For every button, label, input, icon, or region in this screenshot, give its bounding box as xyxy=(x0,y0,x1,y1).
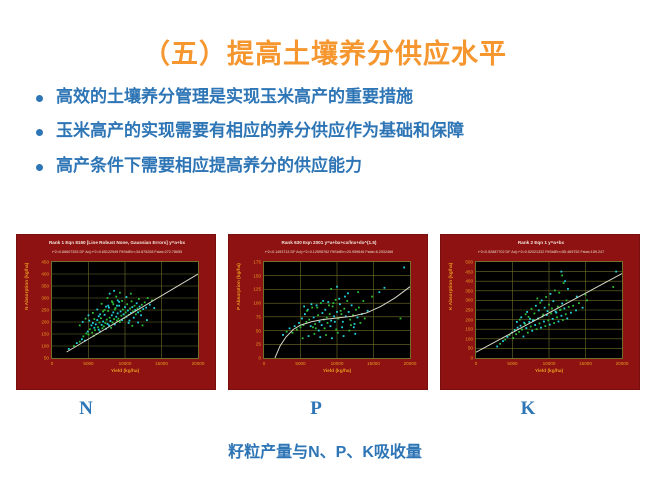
chart-title: Rank 1 Eqn 8160 [Line Robust None, Gauss… xyxy=(16,240,216,245)
plot-canvas: 025507510012515017505000100001500020000 xyxy=(263,261,411,359)
plot-canvas: 5010015020025030035040045005000100001500… xyxy=(51,261,199,359)
y-tick-label: 150 xyxy=(253,273,261,278)
bullet-dot-icon xyxy=(36,129,43,136)
x-tick-label: 20000 xyxy=(616,361,629,366)
y-tick-label: 500 xyxy=(465,260,473,265)
nutrient-label-k: K xyxy=(498,398,558,420)
x-tick-label: 15000 xyxy=(367,361,380,366)
chart-panel-n: Rank 1 Eqn 8160 [Line Robust None, Gauss… xyxy=(16,234,216,390)
chart-panel-k: Rank 2 Eqn 1 y=a+bx r^2=0.52887702 DF Ad… xyxy=(440,234,640,390)
y-tick-label: 200 xyxy=(465,317,473,322)
x-axis-label: Yield (kg/ha) xyxy=(263,369,411,374)
y-tick-label: 50 xyxy=(256,328,261,333)
plot-area-k: 0501001502002503003504004505000500010000… xyxy=(475,261,623,359)
x-tick-label: 15000 xyxy=(155,361,168,366)
y-tick-label: 400 xyxy=(465,279,473,284)
y-axis-label: P Absorption (kg/ha) xyxy=(237,263,242,310)
chart-title: Rank 630 Eqn 2001 y=a+bx+cx/lnx+dx^(1.5) xyxy=(228,240,428,245)
nutrient-label-n: N xyxy=(56,398,116,420)
y-tick-label: 100 xyxy=(41,344,49,349)
y-tick-label: 0 xyxy=(470,356,473,361)
bullet-dot-icon xyxy=(36,95,43,102)
y-axis-label: K Absorption (kg/ha) xyxy=(449,263,454,310)
x-axis-label: Yield (kg/ha) xyxy=(475,369,623,374)
nutrient-label-row: N P K xyxy=(0,398,650,424)
y-tick-label: 25 xyxy=(256,342,261,347)
y-tick-label: 200 xyxy=(41,320,49,325)
y-tick-label: 450 xyxy=(465,269,473,274)
slide-canvas: （五）提高土壤养分供应水平 高效的土壤养分管理是实现玉米高产的重要措施 玉米高产… xyxy=(0,0,650,487)
x-tick-label: 15000 xyxy=(579,361,592,366)
x-tick-label: 10000 xyxy=(331,361,344,366)
y-tick-label: 50 xyxy=(44,356,49,361)
chart-stats: r^2=0.66607353 DF Adj r^2=0.65122949 Fit… xyxy=(17,250,216,254)
x-tick-label: 10000 xyxy=(119,361,132,366)
y-tick-label: 350 xyxy=(41,284,49,289)
y-tick-label: 175 xyxy=(253,260,261,265)
x-tick-label: 0 xyxy=(263,361,266,366)
plot-canvas: 0501001502002503003504004505000500010000… xyxy=(475,261,623,359)
chart-panel-p: Rank 630 Eqn 2001 y=a+bx+cx/lnx+dx^(1.5)… xyxy=(228,234,428,390)
x-tick-label: 0 xyxy=(475,361,478,366)
scatter-svg xyxy=(476,262,622,358)
y-tick-label: 300 xyxy=(465,298,473,303)
y-tick-label: 250 xyxy=(41,308,49,313)
y-tick-label: 250 xyxy=(465,308,473,313)
list-item: 玉米高产的实现需要有相应的养分供应作为基础和保障 xyxy=(36,120,636,141)
y-tick-label: 100 xyxy=(253,301,261,306)
x-tick-label: 0 xyxy=(51,361,54,366)
x-tick-label: 20000 xyxy=(404,361,417,366)
y-tick-label: 100 xyxy=(465,336,473,341)
chart-panel-group: Rank 1 Eqn 8160 [Line Robust None, Gauss… xyxy=(0,234,650,390)
y-tick-label: 125 xyxy=(253,287,261,292)
list-item: 高效的土壤养分管理是实现玉米高产的重要措施 xyxy=(36,86,636,107)
list-item: 高产条件下需要相应提高养分的供应能力 xyxy=(36,155,636,176)
scatter-svg xyxy=(264,262,410,358)
y-tick-label: 350 xyxy=(465,288,473,293)
chart-stats: r^2=0.52887702 DF Adj r^2=0.52021332 Fit… xyxy=(441,250,640,254)
chart-title: Rank 2 Eqn 1 y=a+bx xyxy=(440,240,640,245)
y-tick-label: 300 xyxy=(41,296,49,301)
x-tick-label: 5000 xyxy=(295,361,305,366)
scatter-svg xyxy=(52,262,198,358)
bullet-list: 高效的土壤养分管理是实现玉米高产的重要措施 玉米高产的实现需要有相应的养分供应作… xyxy=(36,86,636,189)
x-axis-label: Yield (kg/ha) xyxy=(51,369,199,374)
bullet-text: 高效的土壤养分管理是实现玉米高产的重要措施 xyxy=(56,86,413,107)
y-tick-label: 450 xyxy=(41,260,49,265)
y-tick-label: 75 xyxy=(256,314,261,319)
y-tick-label: 0 xyxy=(258,356,261,361)
y-tick-label: 400 xyxy=(41,272,49,277)
y-tick-label: 150 xyxy=(465,327,473,332)
x-tick-label: 10000 xyxy=(543,361,556,366)
y-axis-label: N Absorption (kg/ha) xyxy=(25,263,30,310)
bullet-text: 玉米高产的实现需要有相应的养分供应作为基础和保障 xyxy=(56,120,464,141)
x-tick-label: 5000 xyxy=(83,361,93,366)
y-tick-label: 150 xyxy=(41,332,49,337)
plot-area-n: 5010015020025030035040045005000100001500… xyxy=(51,261,199,359)
figure-caption: 籽粒产量与N、P、K吸收量 xyxy=(0,438,650,462)
bullet-text: 高产条件下需要相应提高养分的供应能力 xyxy=(56,155,362,176)
x-tick-label: 20000 xyxy=(192,361,205,366)
page-title: （五）提高土壤养分供应水平 xyxy=(0,32,650,71)
y-tick-label: 50 xyxy=(468,346,473,351)
chart-stats: r^2=0.1493713 DF Adj r^2=0.12595762 FitS… xyxy=(229,250,428,254)
nutrient-label-p: P xyxy=(286,398,346,420)
x-tick-label: 5000 xyxy=(507,361,517,366)
plot-area-p: 025507510012515017505000100001500020000 xyxy=(263,261,411,359)
bullet-dot-icon xyxy=(36,164,43,171)
